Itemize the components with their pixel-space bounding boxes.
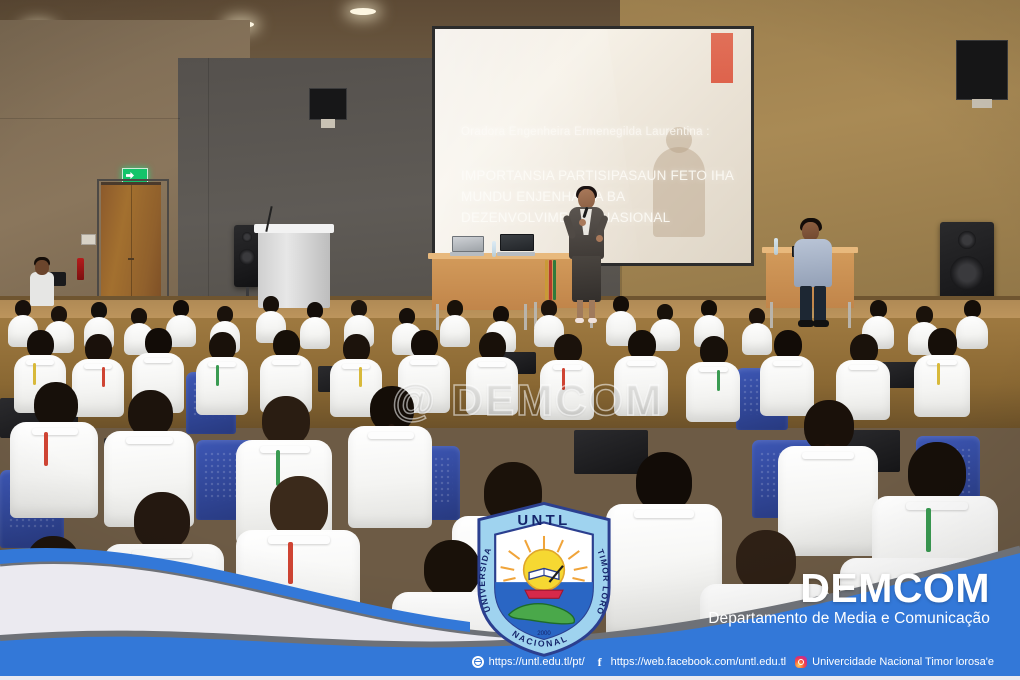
photo-screenshot: Oradora Engenheira Ermenegilda Laurentin… — [0, 0, 1020, 680]
image-watermark: @ DEMCOM — [392, 376, 664, 426]
auditorium-photo: Oradora Engenheira Ermenegilda Laurentin… — [0, 0, 1020, 680]
